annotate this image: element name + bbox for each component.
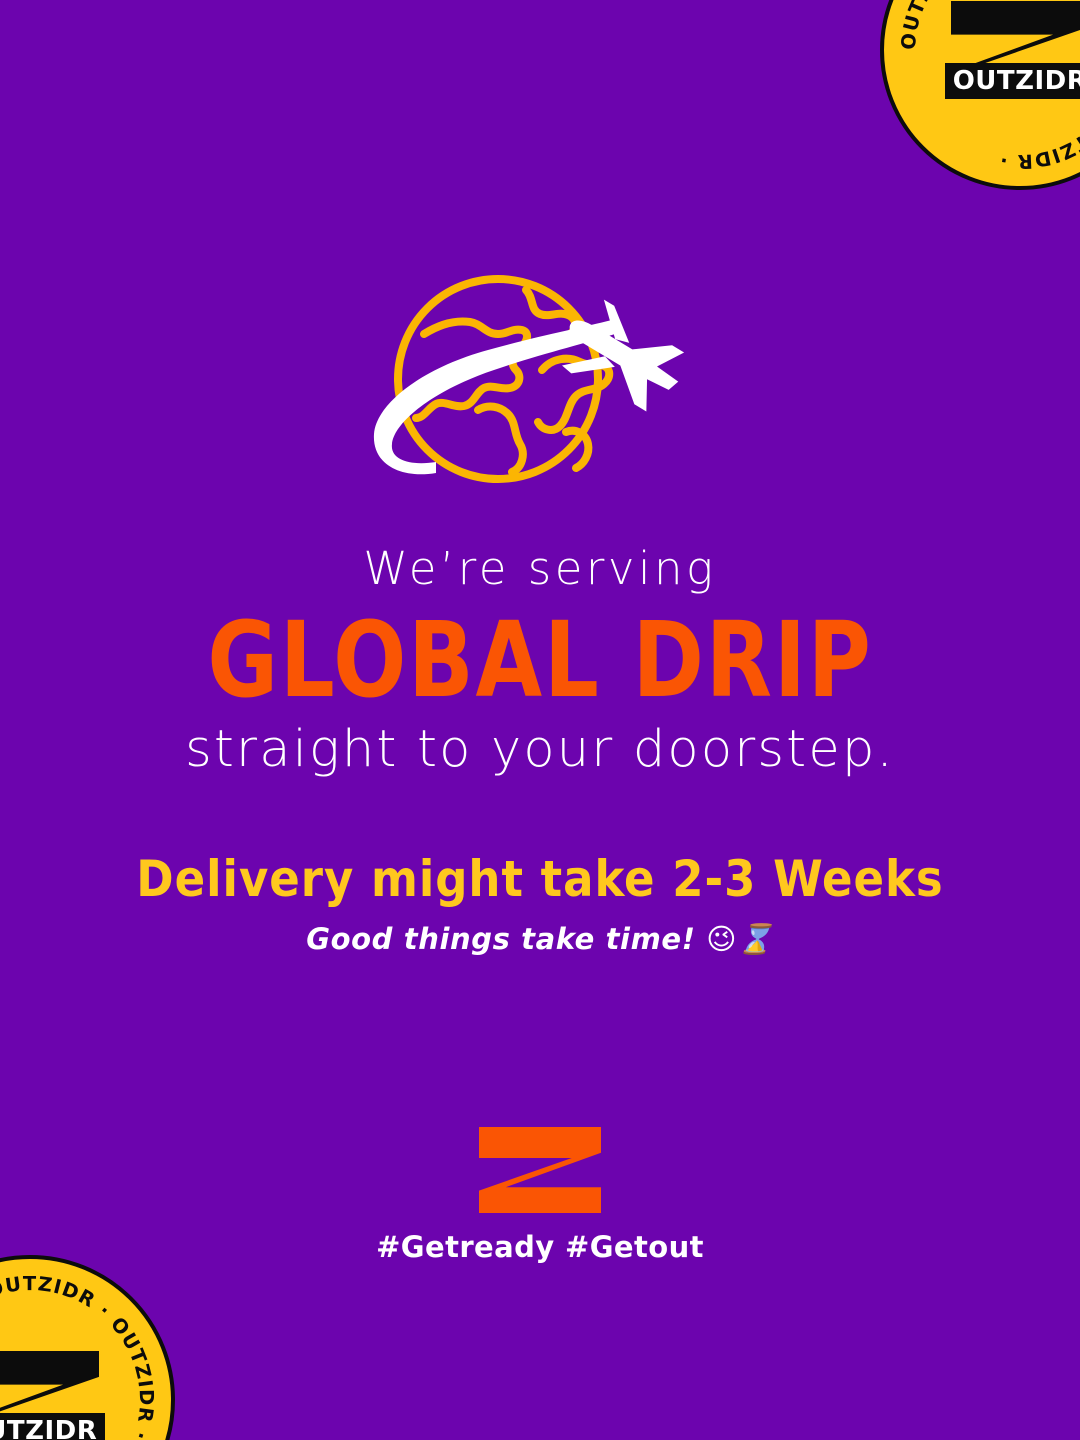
badge-bottom-left: OUTZIDR · OUTZIDR · OUTZIDR · OUTZIDR · …: [0, 1255, 175, 1440]
globe-with-airplane-icon: [370, 272, 710, 497]
subline-text: straight to your doorstep.: [40, 722, 1040, 778]
badge-wordmark-top-right: OUTZIDR: [945, 63, 1080, 99]
reassurance-text: Good things take time! 😉⌛: [40, 922, 1040, 957]
badge-core-bottom-left: OUTZIDR: [0, 1351, 105, 1440]
kicker-text: We’re serving: [40, 545, 1040, 594]
z-logo-icon: [479, 1127, 601, 1213]
delivery-note-text: Delivery might take 2-3 Weeks: [40, 850, 1040, 908]
promo-poster: OUTZIDR · OUTZIDR · OUTZIDR · OUTZIDR · …: [0, 0, 1080, 1440]
badge-wordmark-bottom-left: OUTZIDR: [0, 1413, 105, 1440]
message-block: We’re serving GLOBAL DRIP straight to yo…: [0, 545, 1080, 957]
hero-illustration: [0, 272, 1080, 497]
badge-core-top-right: OUTZIDR: [945, 1, 1080, 99]
badge-top-right: OUTZIDR · OUTZIDR · OUTZIDR · OUTZIDR · …: [880, 0, 1080, 190]
hashtags-text: #Getready #Getout: [0, 1230, 1080, 1264]
headline-text: GLOBAL DRIP: [80, 608, 1000, 712]
footer-brand: #Getready #Getout: [0, 1120, 1080, 1264]
